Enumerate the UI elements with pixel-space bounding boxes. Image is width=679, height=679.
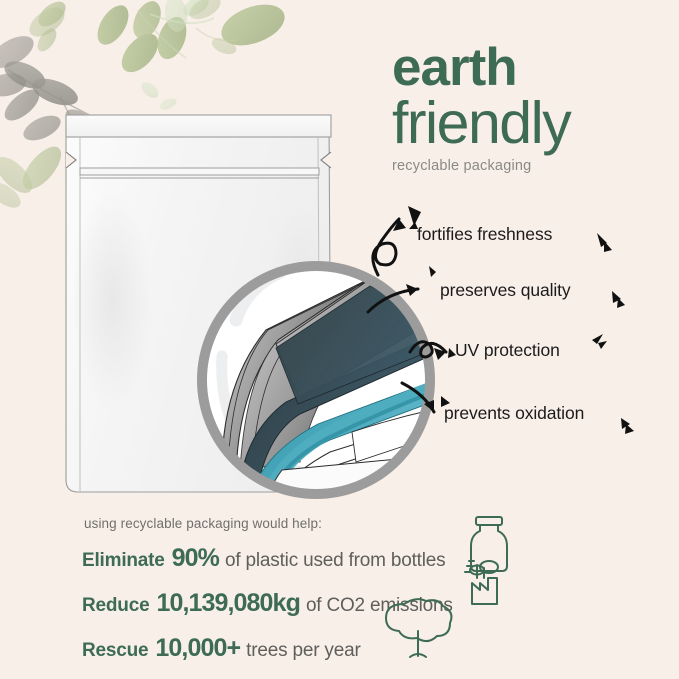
tree-icon bbox=[386, 599, 451, 657]
factory-emissions-icon bbox=[465, 561, 498, 604]
poster-canvas: earth friendly recyclable packaging fort… bbox=[0, 0, 679, 679]
stat-icons bbox=[0, 0, 679, 679]
bottle-icon bbox=[471, 517, 507, 571]
